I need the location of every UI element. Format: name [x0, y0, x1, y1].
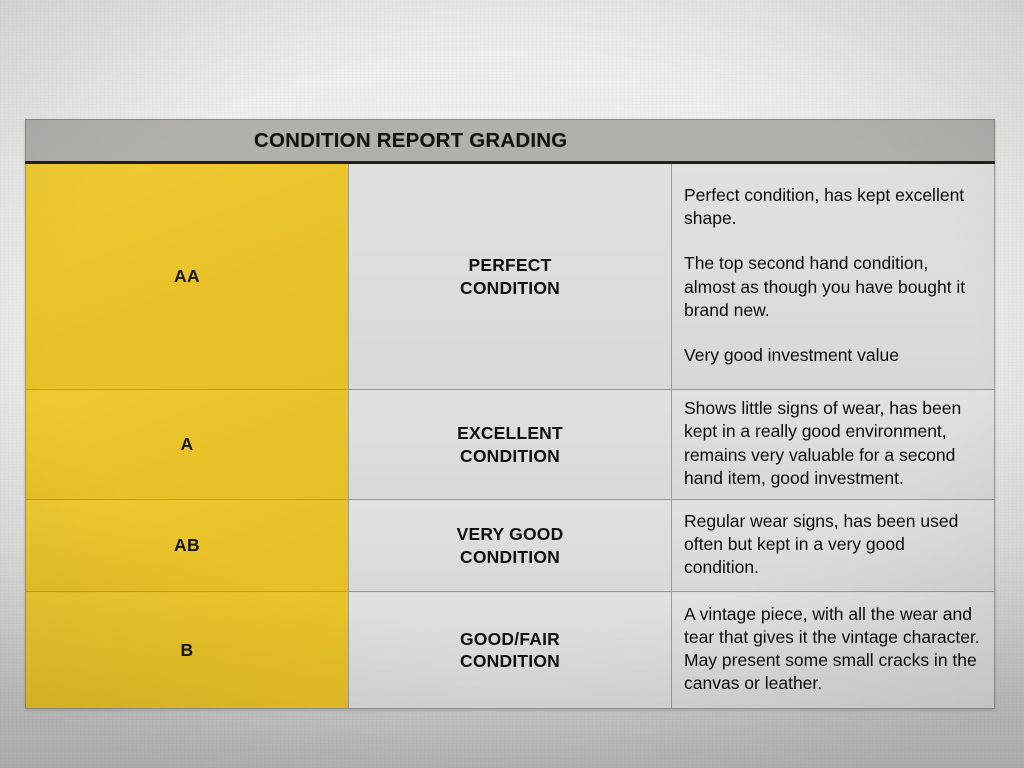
description-paragraph: Regular wear signs, has been used often …	[684, 510, 980, 580]
table-title: CONDITION REPORT GRADING	[26, 120, 995, 163]
condition-label-line1: GOOD/FAIR	[350, 628, 670, 650]
description-paragraph: Perfect condition, has kept excellent sh…	[684, 184, 980, 231]
condition-label-line2: CONDITION	[350, 445, 670, 467]
condition-label-line1: VERY GOOD	[350, 523, 670, 545]
description-paragraph: The top second hand condition, almost as…	[684, 252, 980, 322]
table-body: AA PERFECT CONDITION Perfect condition, …	[26, 163, 995, 709]
description-paragraph: Very good investment value	[684, 344, 980, 367]
grade-cell-ab: AB	[26, 500, 349, 592]
condition-cell-aa: PERFECT CONDITION	[349, 163, 672, 390]
table-header: CONDITION REPORT GRADING	[26, 120, 995, 163]
description-paragraph: A vintage piece, with all the wear and t…	[684, 603, 980, 696]
table-row: B GOOD/FAIR CONDITION A vintage piece, w…	[26, 592, 995, 709]
condition-label-line2: CONDITION	[350, 277, 670, 299]
description-cell-b: A vintage piece, with all the wear and t…	[672, 592, 995, 709]
condition-cell-a: EXCELLENT CONDITION	[349, 390, 672, 500]
description-cell-a: Shows little signs of wear, has been kep…	[672, 390, 995, 500]
header-row: CONDITION REPORT GRADING	[26, 120, 995, 163]
condition-cell-b: GOOD/FAIR CONDITION	[349, 592, 672, 709]
condition-cell-ab: VERY GOOD CONDITION	[349, 500, 672, 592]
condition-label-line2: CONDITION	[350, 650, 670, 672]
table-row: A EXCELLENT CONDITION Shows little signs…	[26, 390, 995, 500]
grade-cell-b: B	[26, 592, 349, 709]
table-row: AA PERFECT CONDITION Perfect condition, …	[26, 163, 995, 390]
condition-label-line1: EXCELLENT	[350, 422, 670, 444]
condition-label-line2: CONDITION	[350, 546, 670, 568]
condition-label-line1: PERFECT	[350, 254, 670, 276]
description-paragraph: Shows little signs of wear, has been kep…	[684, 397, 980, 490]
grade-cell-aa: AA	[26, 163, 349, 390]
description-cell-aa: Perfect condition, has kept excellent sh…	[672, 163, 995, 390]
table-row: AB VERY GOOD CONDITION Regular wear sign…	[26, 500, 995, 592]
condition-report-grading-table: CONDITION REPORT GRADING AA PERFECT COND…	[25, 119, 995, 709]
description-cell-ab: Regular wear signs, has been used often …	[672, 500, 995, 592]
grade-cell-a: A	[26, 390, 349, 500]
